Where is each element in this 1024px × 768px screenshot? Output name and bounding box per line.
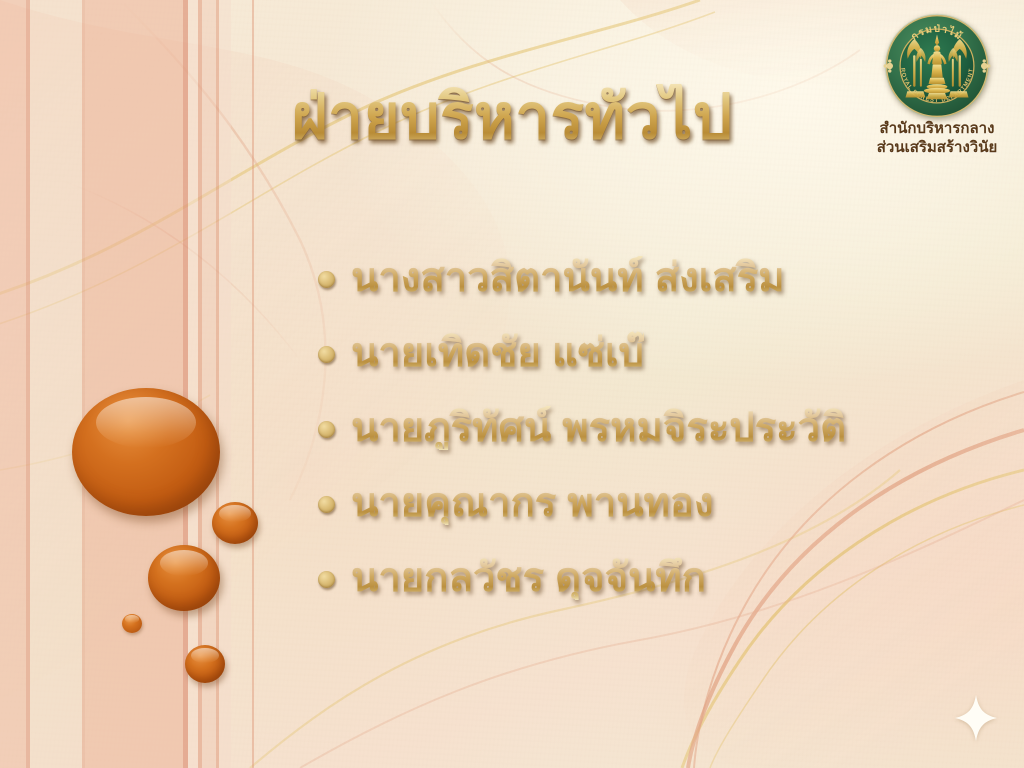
royal-forest-department-seal-icon: กรมป่าไม้ ROYAL FOREST DEPARTMENT: [883, 12, 991, 120]
bullet-dot-icon: [318, 496, 335, 513]
amber-sphere-small-upper: [212, 502, 258, 544]
list-item: นายกลวัชร ดุจจันทึก: [318, 540, 978, 615]
bullet-list: นางสาวสิตานันท์ ส่งเสริม นายเทิดชัย แซ่เ…: [318, 240, 978, 615]
list-item-label: นายเทิดชัย แซ่เบ๊: [351, 331, 644, 375]
organization-name-line2: ส่วนเสริมสร้างวินัย: [864, 139, 1010, 158]
bullet-dot-icon: [318, 571, 335, 588]
list-item-label: นายกลวัชร ดุจจันทึก: [351, 556, 706, 600]
presentation-slide: ฝ่ายบริหารทั่วไป นางสาวสิตานันท์ ส่งเสริ…: [0, 0, 1024, 768]
bullet-dot-icon: [318, 271, 335, 288]
list-item: นายคุณากร พานทอง: [318, 465, 978, 540]
list-item-label: นางสาวสิตานันท์ ส่งเสริม: [351, 256, 785, 300]
amber-sphere-small-lower: [185, 645, 225, 683]
organization-logo-block: กรมป่าไม้ ROYAL FOREST DEPARTMENT: [864, 12, 1010, 158]
organization-name-line1: สำนักบริหารกลาง: [864, 120, 1010, 139]
four-point-star-sparkle-icon: [955, 695, 997, 741]
list-item-label: นายคุณากร พานทอง: [351, 481, 713, 525]
amber-sphere-medium: [148, 545, 220, 611]
list-item: นางสาวสิตานันท์ ส่งเสริม: [318, 240, 978, 315]
list-item: นายภูริทัศน์ พรหมจิระประวัติ: [318, 390, 978, 465]
bullet-dot-icon: [318, 346, 335, 363]
list-item-label: นายภูริทัศน์ พรหมจิระประวัติ: [351, 406, 846, 450]
amber-sphere-large: [72, 388, 220, 516]
bullet-dot-icon: [318, 421, 335, 438]
amber-sphere-tiny: [122, 614, 142, 633]
list-item: นายเทิดชัย แซ่เบ๊: [318, 315, 978, 390]
